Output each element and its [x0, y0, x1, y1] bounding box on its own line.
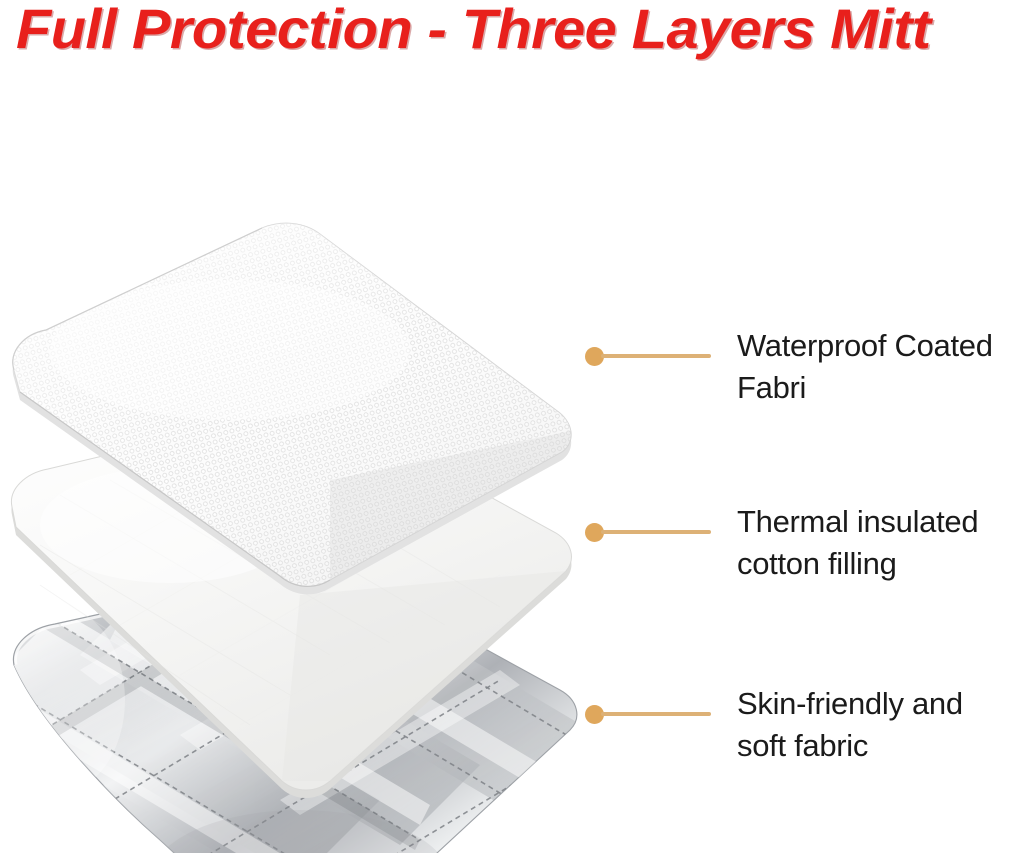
product-layer-stack: [0, 150, 600, 853]
page-title: Full Protection - Three Layers Mitt: [16, 0, 1024, 62]
callout-line-1: Waterproof Coated: [737, 328, 993, 363]
leader-line: [601, 712, 711, 716]
callout-line-2: Fabri: [737, 367, 1024, 409]
callout-text: Thermal insulated cotton filling: [737, 501, 1024, 585]
callout-text: Waterproof Coated Fabri: [737, 325, 1024, 409]
leader-line: [601, 530, 711, 534]
layer-top-waterproof: [0, 180, 600, 600]
callout-line-2: cotton filling: [737, 543, 1024, 585]
callout-line-2: soft fabric: [737, 725, 1024, 767]
infographic-page: Full Protection - Three Layers Mitt: [0, 0, 1024, 853]
callout-line-1: Thermal insulated: [737, 504, 978, 539]
callout-line-1: Skin-friendly and: [737, 686, 963, 721]
callout-text: Skin-friendly and soft fabric: [737, 683, 1024, 767]
leader-line: [601, 354, 711, 358]
